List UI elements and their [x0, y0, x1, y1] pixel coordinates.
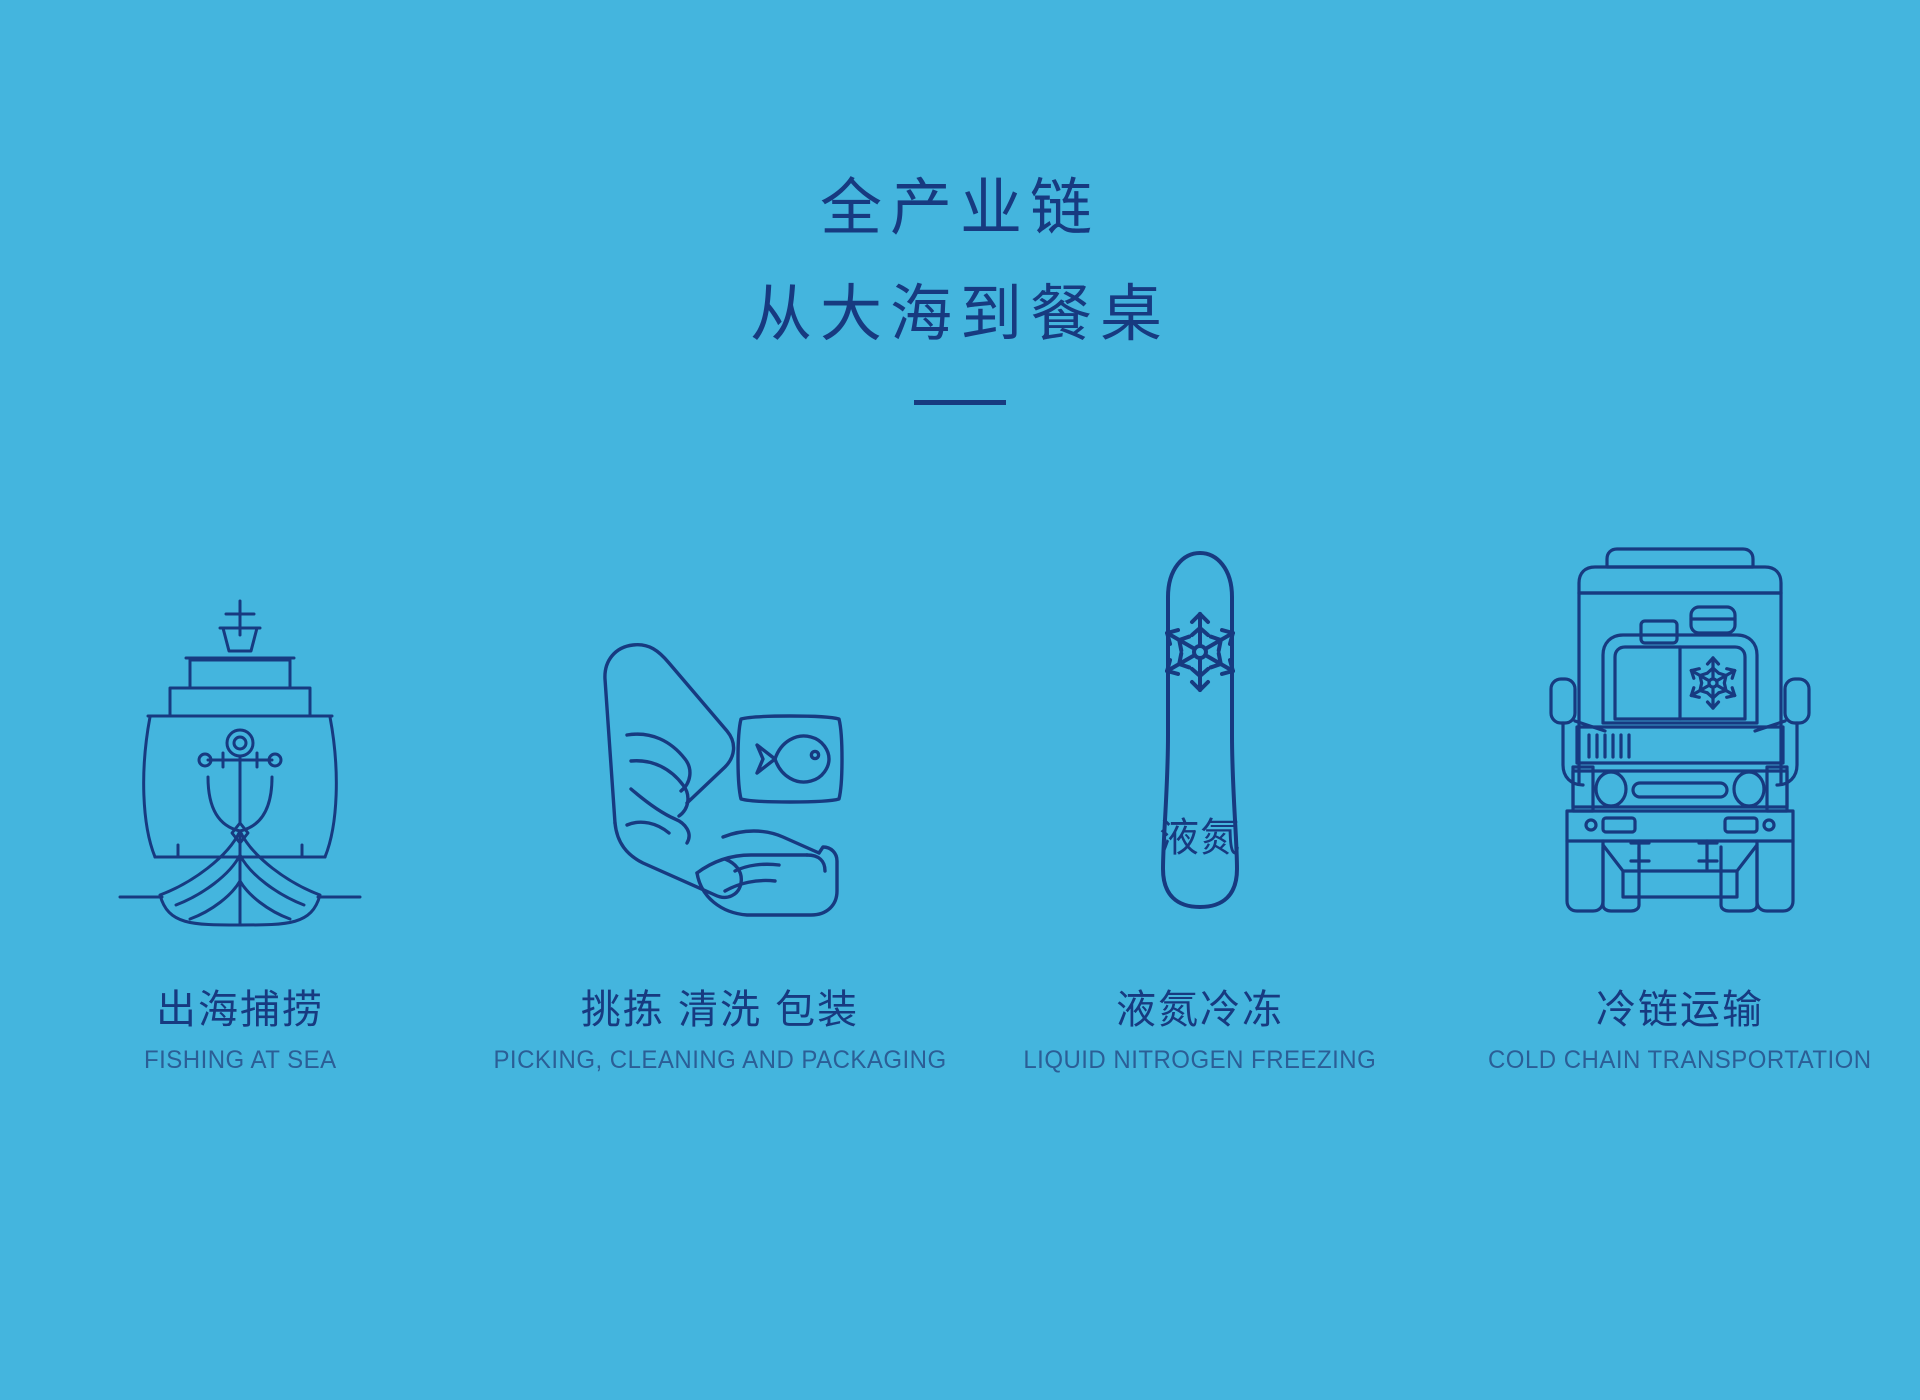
step-3-labels: 液氮冷冻 LIQUID NITROGEN FREEZING [1016, 987, 1384, 1075]
step-4-labels: 冷链运输 COLD CHAIN TRANSPORTATION [1480, 987, 1880, 1075]
step-2-label-en: PICKING, CLEANING AND PACKAGING [493, 1047, 946, 1075]
step-1-label-en: FISHING AT SEA [144, 1047, 337, 1075]
step-1-label-cn: 出海捕捞 [140, 987, 341, 1033]
step-2-icon-box [575, 531, 865, 925]
infographic-page: 全产业链 从大海到餐桌 [0, 0, 1920, 1400]
step-4-label-en: COLD CHAIN TRANSPORTATION [1488, 1047, 1872, 1075]
snowflake-icon [1163, 614, 1237, 690]
fishing-boat-anchor-icon [120, 595, 360, 925]
header: 全产业链 从大海到餐桌 [0, 178, 1920, 405]
refrigerated-truck-icon [1545, 535, 1815, 915]
step-cold-chain-transportation: 冷链运输 COLD CHAIN TRANSPORTATION [1440, 525, 1920, 1075]
page-title-line-1: 全产业链 [0, 178, 1920, 240]
tank-inner-label: 液氮 [1159, 816, 1241, 860]
step-3-label-cn: 液氮冷冻 [1016, 987, 1384, 1033]
title-divider [914, 400, 1006, 405]
step-fishing-at-sea: 出海捕捞 FISHING AT SEA [0, 535, 480, 1075]
step-4-label-cn: 冷链运输 [1480, 987, 1880, 1033]
step-1-icon-box [120, 535, 360, 925]
step-picking-cleaning-packaging: 挑拣 清洗 包装 PICKING, CLEANING AND PACKAGING [480, 531, 960, 1075]
liquid-nitrogen-tank-icon: 液氮 [1125, 539, 1275, 919]
step-3-label-en: LIQUID NITROGEN FREEZING [1024, 1047, 1377, 1075]
truck-snowflake-icon [1689, 658, 1738, 708]
process-steps: 出海捕捞 FISHING AT SEA [0, 525, 1920, 1075]
step-1-labels: 出海捕捞 FISHING AT SEA [140, 987, 341, 1075]
step-3-icon-box: 液氮 [1125, 529, 1275, 925]
title-divider-wrap [0, 400, 1920, 405]
step-2-labels: 挑拣 清洗 包装 PICKING, CLEANING AND PACKAGING [484, 987, 956, 1075]
hands-fish-package-icon [575, 571, 865, 921]
page-title-line-2: 从大海到餐桌 [0, 284, 1920, 346]
step-liquid-nitrogen-freezing: 液氮 液氮冷冻 LIQUID NITROGEN FREEZING [960, 529, 1440, 1075]
step-4-icon-box [1545, 525, 1815, 925]
step-2-label-cn: 挑拣 清洗 包装 [484, 987, 956, 1033]
